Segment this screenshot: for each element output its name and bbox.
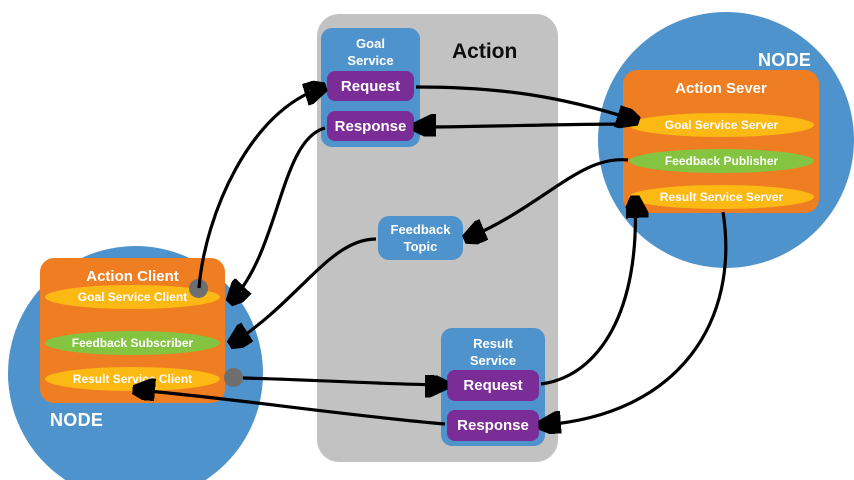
action-server-node-label: NODE	[758, 50, 811, 71]
result-service-client-connector-dot	[224, 368, 243, 387]
arrow-goal-client-to-request	[199, 88, 322, 288]
feedback-subscriber-pill[interactable]: Feedback Subscriber	[45, 331, 220, 355]
diagram-canvas: NODE Action Client Goal Service Client F…	[0, 0, 854, 480]
result-service-title-line1: Result	[441, 335, 545, 352]
action-server-title: Action Sever	[623, 80, 819, 97]
goal-service-title-line1: Goal	[321, 35, 420, 52]
goal-service-response-box[interactable]: Response	[327, 111, 414, 141]
goal-service-server-pill[interactable]: Goal Service Server	[629, 113, 814, 137]
arrow-goal-response-to-client	[232, 128, 325, 300]
action-title: Action	[452, 40, 517, 64]
feedback-topic-line1: Feedback	[391, 221, 451, 238]
feedback-topic-box[interactable]: Feedback Topic	[378, 216, 463, 260]
goal-service-client-connector-dot	[189, 279, 208, 298]
result-service-server-pill[interactable]: Result Service Server	[629, 185, 814, 209]
result-service-request-box[interactable]: Request	[447, 370, 539, 401]
result-service-response-box[interactable]: Response	[447, 410, 539, 441]
goal-service-title: Goal Service	[321, 35, 420, 69]
feedback-publisher-pill[interactable]: Feedback Publisher	[629, 149, 814, 173]
feedback-topic-line2: Topic	[391, 238, 451, 255]
goal-service-title-line2: Service	[321, 52, 420, 69]
result-service-title: Result Service	[441, 335, 545, 369]
action-client-node-label: NODE	[50, 410, 103, 431]
result-service-client-pill[interactable]: Result Service Client	[45, 367, 220, 391]
goal-service-request-box[interactable]: Request	[327, 71, 414, 101]
result-service-title-line2: Service	[441, 352, 545, 369]
